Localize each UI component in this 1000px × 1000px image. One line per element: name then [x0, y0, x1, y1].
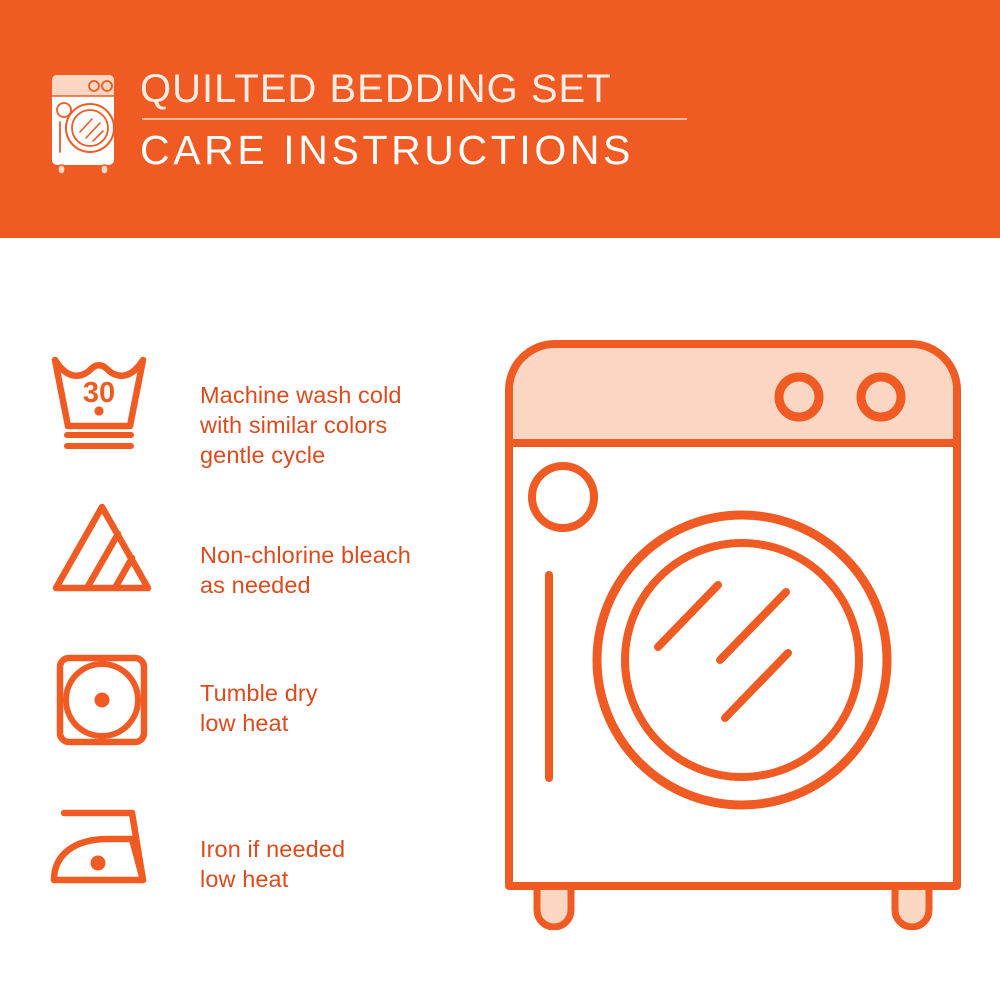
care-line: Machine wash cold	[200, 380, 480, 410]
care-text-machine-wash: Machine wash cold with similar colors ge…	[200, 380, 480, 470]
tumble-dry-low-heat-icon	[46, 644, 166, 748]
care-line: low heat	[200, 708, 480, 738]
non-chlorine-bleach-triangle-icon	[46, 500, 166, 596]
care-line: Non-chlorine bleach	[200, 540, 480, 570]
care-text-bleach: Non-chlorine bleach as needed	[200, 540, 480, 600]
washing-machine-illustration	[495, 330, 975, 930]
wash-temp-label: 30	[83, 377, 115, 409]
page-title: QUILTED BEDDING SET	[140, 66, 700, 112]
care-line: low heat	[200, 864, 480, 894]
washing-machine-icon	[46, 70, 124, 176]
care-line: Tumble dry	[200, 678, 480, 708]
care-text-iron: Iron if needed low heat	[200, 834, 480, 894]
care-line: Iron if needed	[200, 834, 480, 864]
machine-wash-30-icon: 30	[46, 350, 166, 454]
care-line: gentle cycle	[200, 440, 480, 470]
care-line: with similar colors	[200, 410, 480, 440]
care-line: as needed	[200, 570, 480, 600]
header-banner: QUILTED BEDDING SET CARE INSTRUCTIONS	[0, 0, 1000, 238]
care-text-tumble-dry: Tumble dry low heat	[200, 678, 480, 738]
care-instructions-page: QUILTED BEDDING SET CARE INSTRUCTIONS 30	[0, 0, 1000, 1000]
page-subtitle: CARE INSTRUCTIONS	[140, 127, 700, 173]
header-text-block: QUILTED BEDDING SET CARE INSTRUCTIONS	[140, 66, 700, 173]
iron-low-heat-icon	[46, 802, 166, 892]
title-divider	[142, 118, 687, 120]
washer-control-panel	[513, 348, 953, 443]
